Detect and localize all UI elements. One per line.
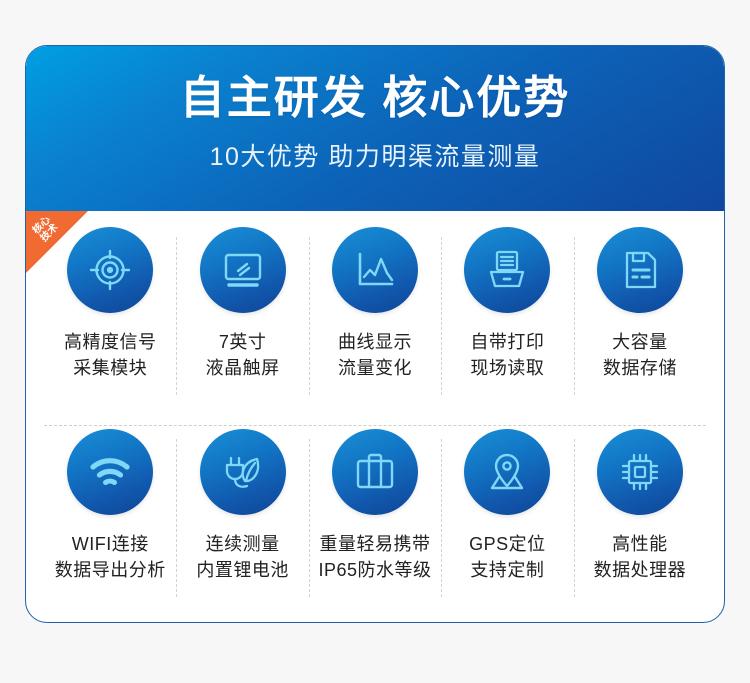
feature-label-line-1: 连续测量 [176, 531, 308, 557]
feature-label-line-2: 内置锂电池 [176, 557, 308, 583]
feature-label: 高精度信号 采集模块 [44, 329, 176, 381]
feature-label-line-1: 曲线显示 [309, 329, 441, 355]
feature-label: WIFI连接 数据导出分析 [44, 531, 176, 583]
feature-item-processor[interactable]: 高性能 数据处理器 [574, 425, 706, 615]
feature-label-line-2: 现场读取 [441, 355, 573, 381]
feature-item-touchscreen[interactable]: 7英寸 液晶触屏 [176, 223, 308, 413]
feature-row: WIFI连接 数据导出分析 [44, 413, 706, 615]
feature-label: 自带打印 现场读取 [441, 329, 573, 381]
feature-label-line-2: IP65防水等级 [309, 557, 441, 583]
feature-item-wifi[interactable]: WIFI连接 数据导出分析 [44, 425, 176, 615]
feature-label: GPS定位 支持定制 [441, 531, 573, 583]
corner-ribbon [26, 211, 88, 273]
feature-label: 7英寸 液晶触屏 [176, 329, 308, 381]
eco-plug-leaf-icon [200, 429, 286, 515]
feature-row: 高精度信号 采集模块 7英寸 [44, 211, 706, 413]
feature-item-built-in-printer[interactable]: 自带打印 现场读取 [441, 223, 573, 413]
feature-label: 高性能 数据处理器 [574, 531, 706, 583]
feature-label-line-2: 采集模块 [44, 355, 176, 381]
feature-label-line-1: 大容量 [574, 329, 706, 355]
gps-location-pin-icon [464, 429, 550, 515]
feature-item-curve-display[interactable]: 曲线显示 流量变化 [309, 223, 441, 413]
printer-icon [464, 227, 550, 313]
feature-label-line-1: 高精度信号 [44, 329, 176, 355]
feature-label-line-2: 流量变化 [309, 355, 441, 381]
feature-label: 连续测量 内置锂电池 [176, 531, 308, 583]
feature-label-line-1: 重量轻易携带 [309, 531, 441, 557]
save-document-icon [597, 227, 683, 313]
feature-label-line-1: 7英寸 [176, 329, 308, 355]
feature-label: 曲线显示 流量变化 [309, 329, 441, 381]
line-chart-icon [332, 227, 418, 313]
touchscreen-monitor-icon [200, 227, 286, 313]
header-banner: 自主研发 核心优势 10大优势 助力明渠流量测量 [26, 46, 724, 211]
feature-label-line-1: 自带打印 [441, 329, 573, 355]
feature-label-line-2: 液晶触屏 [176, 355, 308, 381]
feature-card: 自主研发 核心优势 10大优势 助力明渠流量测量 核心 技术 [25, 45, 725, 623]
feature-item-gps[interactable]: GPS定位 支持定制 [441, 425, 573, 615]
feature-label-line-1: GPS定位 [441, 531, 573, 557]
feature-label-line-1: WIFI连接 [44, 531, 176, 557]
wifi-icon [67, 429, 153, 515]
page-title: 自主研发 核心优势 [26, 46, 724, 124]
feature-label: 大容量 数据存储 [574, 329, 706, 381]
feature-label-line-2: 支持定制 [441, 557, 573, 583]
page-subtitle: 10大优势 助力明渠流量测量 [26, 124, 724, 173]
feature-label-line-2: 数据处理器 [574, 557, 706, 583]
feature-item-data-storage[interactable]: 大容量 数据存储 [574, 223, 706, 413]
cpu-chip-icon [597, 429, 683, 515]
feature-label: 重量轻易携带 IP65防水等级 [309, 531, 441, 583]
promo-page: 自主研发 核心优势 10大优势 助力明渠流量测量 核心 技术 [0, 0, 750, 683]
features-grid: 高精度信号 采集模块 7英寸 [26, 211, 724, 622]
briefcase-icon [332, 429, 418, 515]
feature-item-battery[interactable]: 连续测量 内置锂电池 [176, 425, 308, 615]
feature-label-line-2: 数据导出分析 [44, 557, 176, 583]
feature-label-line-1: 高性能 [574, 531, 706, 557]
feature-item-portable[interactable]: 重量轻易携带 IP65防水等级 [309, 425, 441, 615]
feature-label-line-2: 数据存储 [574, 355, 706, 381]
